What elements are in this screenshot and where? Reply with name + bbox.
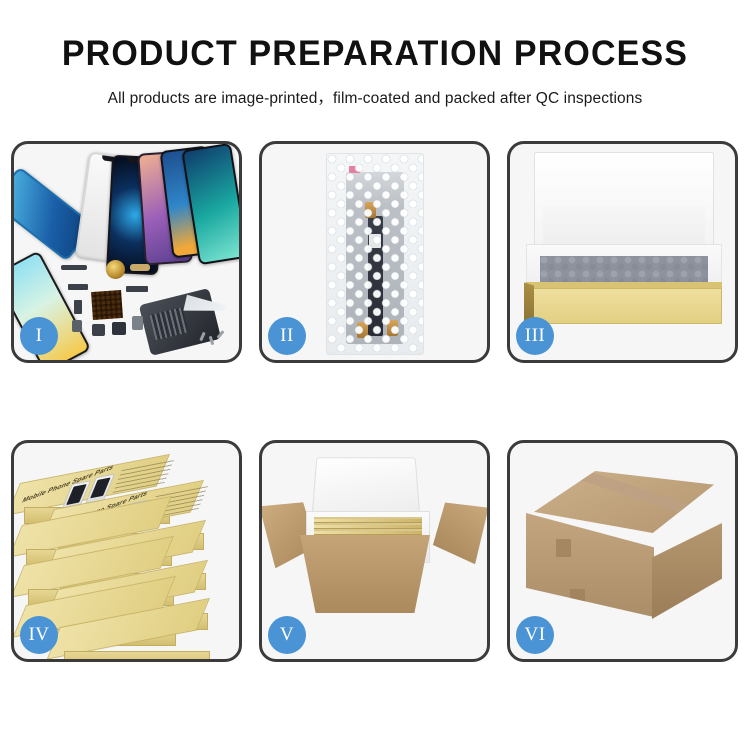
connector-grid-part xyxy=(91,290,123,320)
carton-body xyxy=(300,535,430,613)
bubble-wrap-pouch xyxy=(326,153,424,355)
camera-part xyxy=(74,300,82,314)
page-header: PRODUCT PREPARATION PROCESS All products… xyxy=(0,0,750,108)
button-part xyxy=(92,324,105,336)
step-badge-1: I xyxy=(20,317,58,355)
step-badge-6: VI xyxy=(516,616,554,654)
process-step-panel-6: VI xyxy=(507,440,738,662)
antenna-part xyxy=(130,264,150,271)
flex-cable-part xyxy=(61,265,87,270)
sealed-carton xyxy=(526,471,722,631)
step-badge-3: III xyxy=(516,317,554,355)
process-step-panel-4: Mobile Phone Spare Parts Mobile Phone Sp… xyxy=(11,440,242,662)
process-step-panel-5: V xyxy=(259,440,490,662)
speaker-part-icon xyxy=(106,260,125,279)
page-subtitle: All products are image-printed，film-coat… xyxy=(0,86,750,108)
carton-tab-upper xyxy=(556,539,571,557)
sensor-part xyxy=(132,316,143,330)
bracket-part xyxy=(68,284,88,290)
process-step-panel-1: I xyxy=(11,141,242,363)
box-front-panel xyxy=(526,288,722,324)
step-badge-5: V xyxy=(268,616,306,654)
bubble-texture xyxy=(327,154,423,354)
product-preparation-page: PRODUCT PREPARATION PROCESS All products… xyxy=(0,0,750,750)
carton-flap-right xyxy=(431,496,487,564)
retail-box-layer-8 xyxy=(60,627,210,659)
process-step-panel-2: II xyxy=(259,141,490,363)
step-badge-2: II xyxy=(268,317,306,355)
sim-tray-part xyxy=(72,320,82,332)
step-badge-4: IV xyxy=(20,616,58,654)
screws-group xyxy=(201,330,227,346)
carton-seal-tape xyxy=(579,469,693,515)
carton-side-face xyxy=(652,523,722,619)
carton-tab-lower xyxy=(570,589,585,607)
process-step-panel-3: III xyxy=(507,141,738,363)
ribbon-part xyxy=(126,286,148,292)
process-step-grid: I II xyxy=(11,141,739,741)
vibrator-part xyxy=(112,322,126,335)
page-title: PRODUCT PREPARATION PROCESS xyxy=(11,34,739,74)
